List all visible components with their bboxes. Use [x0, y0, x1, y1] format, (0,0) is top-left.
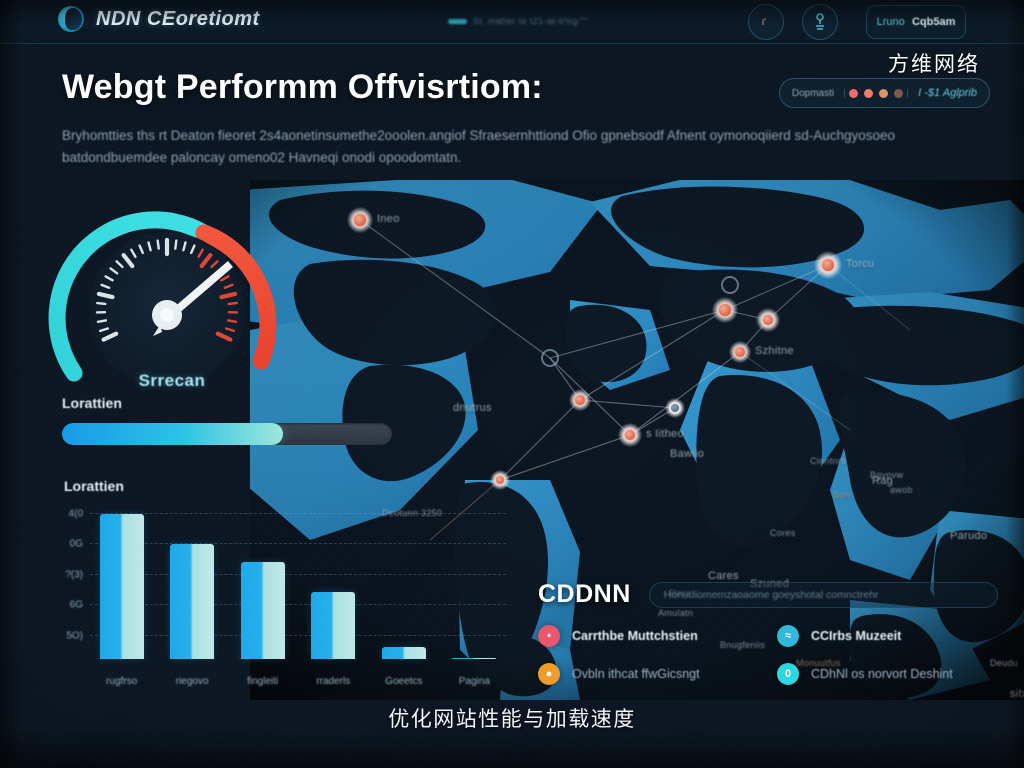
bar[interactable]: [311, 592, 355, 659]
bar-chart-x-axis: rugfrsoriegovofingleitirraderlsGoeetcsPa…: [90, 676, 506, 687]
page-subtitle: Bryhomtties ths rt Deaton fieoret 2s4aon…: [62, 125, 942, 169]
status-dot-1: [849, 89, 858, 98]
progress-bar-track[interactable]: [62, 423, 392, 445]
map-node-marker[interactable]: [618, 423, 642, 447]
map-node-halo: [665, 398, 685, 418]
gauge-tick: [229, 303, 237, 304]
bar-chart: Lorattien 4(00G?(3)6G5O) rugfrsoriegovof…: [50, 478, 520, 693]
map-node-core: [735, 347, 745, 357]
map-node-marker[interactable]: [729, 341, 751, 363]
map-node-halo: [618, 423, 642, 447]
map-region-label: Sun: [833, 490, 850, 500]
gauge-plug-icon[interactable]: [802, 4, 838, 40]
cdn-title: CDDNN: [538, 580, 631, 609]
legend-item[interactable]: 0CDhNl os norvort Deshint: [777, 663, 998, 685]
legend-item[interactable]: ≈CCIrbs Muzeeit: [777, 625, 998, 647]
legend-item-label: CCIrbs Muzeeit: [811, 629, 901, 643]
map-node-core: [763, 315, 774, 326]
map-node-core: [354, 214, 365, 225]
map-node-core: [625, 430, 636, 441]
x-axis-tick-label: riegovo: [161, 676, 224, 687]
header-action-label-a: Lruno: [877, 16, 905, 28]
map-node-core: [671, 404, 680, 413]
shield-alert-icon: •: [538, 625, 560, 647]
status-dot-group: [844, 89, 908, 98]
status-dot-4: [894, 89, 903, 98]
map-region-label: Parudo: [950, 530, 987, 542]
caption: 优化网站性能与加载速度: [0, 703, 1024, 733]
speed-gauge-svg: [52, 205, 292, 385]
status-badge-label: Dopmasti: [792, 88, 834, 99]
progress-section: Lorattien: [62, 395, 392, 445]
gauge-tick: [97, 303, 105, 304]
gauge-tick: [228, 320, 236, 321]
bar-group: [90, 514, 506, 659]
map-node-marker[interactable]: [569, 389, 591, 411]
progress-label: Lorattien: [62, 395, 392, 411]
map-node-marker[interactable]: [541, 349, 559, 367]
x-axis-tick-label: Pagina: [443, 676, 506, 687]
map-node-marker[interactable]: [712, 297, 738, 323]
map-node-halo: [729, 341, 751, 363]
flame-icon: ●: [538, 663, 560, 685]
bar-slot: [443, 514, 506, 659]
map-node-halo: [814, 251, 842, 279]
bar[interactable]: [100, 514, 144, 659]
legend-item-label: Ovbln ithcat ffwGicsngt: [572, 667, 700, 681]
map-node-core: [575, 395, 585, 405]
x-axis-tick-label: rraderls: [302, 676, 365, 687]
map-node-marker[interactable]: [347, 207, 373, 233]
bar[interactable]: [382, 647, 426, 659]
map-node-label: Torcu: [846, 258, 874, 270]
status-badge-action[interactable]: I -$1 Aglprib: [918, 87, 977, 99]
bar-slot: [302, 514, 365, 659]
bar-slot: [372, 514, 435, 659]
cdn-legend-list: •Carrthbe Muttchstien≈CCIrbs Muzeeit●Ovb…: [538, 625, 998, 685]
y-axis-tick-label: ?(3): [65, 569, 83, 580]
progress-bar-fill: [62, 423, 283, 445]
search-placeholder: Honudiomemzaoaome goeyshotal comnctrehr: [664, 589, 879, 601]
brand-name: NDN CEoretiomt: [96, 8, 260, 31]
bar-slot: [231, 514, 294, 659]
legend-item[interactable]: •Carrthbe Muttchstien: [538, 625, 759, 647]
map-region-label: Cores: [770, 528, 796, 538]
map-region-label: sib: [1010, 688, 1024, 700]
status-dot-3: [879, 89, 888, 98]
map-node-marker[interactable]: [756, 308, 780, 332]
map-node-core: [822, 259, 834, 271]
user-circle-icon[interactable]: [748, 4, 784, 40]
y-axis-tick-label: 4(0: [69, 509, 83, 520]
y-axis-tick-label: 6G: [70, 600, 83, 611]
gauge-tick: [175, 241, 176, 249]
bar-slot: [161, 514, 224, 659]
map-node-label: s Iitheo: [646, 428, 684, 440]
legend-item-label: CDhNl os norvort Deshint: [811, 667, 953, 681]
map-region-label: Bgypvw: [870, 470, 903, 480]
bar[interactable]: [170, 544, 214, 659]
map-node-halo: [541, 349, 559, 367]
dashboard-screenshot: IneoTorcuSzhitnes Iitheo dnutrusDeotunn …: [0, 0, 1024, 768]
bar[interactable]: [452, 658, 496, 659]
x-axis-tick-label: Goeetcs: [372, 676, 435, 687]
y-axis-tick-label: 5O): [66, 630, 83, 641]
cdn-section: CDDNN Honudiomemzaoaome goeyshotal comnc…: [538, 580, 998, 685]
gauge-label: Srrecan: [52, 371, 292, 391]
watermark: 方维网络: [888, 48, 980, 78]
map-region-label: dnutrus: [453, 402, 492, 414]
bar-chart-title: Lorattien: [64, 478, 520, 494]
database-icon: 0: [777, 663, 799, 685]
map-region-label: Bawiio: [670, 448, 704, 460]
map-node-halo: [569, 389, 591, 411]
status-dot-2: [864, 89, 873, 98]
map-node-marker[interactable]: [665, 398, 685, 418]
x-axis-tick-label: rugfrso: [90, 676, 153, 687]
map-region-label: awob: [890, 485, 913, 495]
map-region-label: Cinntnrs: [810, 456, 846, 466]
status-badge[interactable]: Dopmasti I -$1 Aglprib: [779, 78, 990, 108]
legend-item-label: Carrthbe Muttchstien: [572, 629, 698, 643]
bar-chart-plot: 4(00G?(3)6G5O): [90, 514, 506, 659]
map-node-marker[interactable]: [814, 251, 842, 279]
map-node-core: [719, 304, 730, 315]
nav-label: St. matter te t21-at-6%g:"": [473, 16, 588, 26]
nav-accent-bar: [448, 19, 467, 24]
map-node-label: Ineo: [377, 213, 400, 225]
search-input[interactable]: Honudiomemzaoaome goeyshotal comnctrehr: [649, 582, 998, 608]
bar-slot: [90, 514, 153, 659]
cloud-icon: ≈: [777, 625, 799, 647]
map-node-halo: [721, 276, 739, 294]
app-header: NDN CEoretiomt St. matter te t21-at-6%g:…: [0, 0, 1024, 44]
plug-glyph: [811, 12, 829, 32]
map-node-halo: [756, 308, 780, 332]
x-axis-tick-label: fingleiti: [231, 676, 294, 687]
speed-gauge: Srrecan: [52, 205, 292, 385]
gauge-tick: [158, 241, 159, 249]
header-action-button[interactable]: Lruno Cqb5am: [866, 5, 966, 39]
header-action-label-b: Cqb5am: [912, 16, 955, 28]
user-glyph: [758, 14, 774, 30]
gauge-tick: [98, 320, 106, 321]
map-node-marker[interactable]: [721, 276, 739, 294]
map-node-label: Szhitne: [755, 345, 794, 357]
globe-swirl-icon: [58, 6, 84, 32]
map-node-halo: [712, 297, 738, 323]
brand[interactable]: NDN CEoretiomt: [58, 6, 260, 32]
header-nav-links[interactable]: St. matter te t21-at-6%g:"": [448, 14, 588, 28]
map-node-halo: [347, 207, 373, 233]
bar[interactable]: [241, 562, 285, 659]
legend-item[interactable]: ●Ovbln ithcat ffwGicsngt: [538, 663, 759, 685]
y-axis-tick-label: 0G: [70, 539, 83, 550]
cdn-header: CDDNN Honudiomemzaoaome goeyshotal comnc…: [538, 580, 998, 609]
